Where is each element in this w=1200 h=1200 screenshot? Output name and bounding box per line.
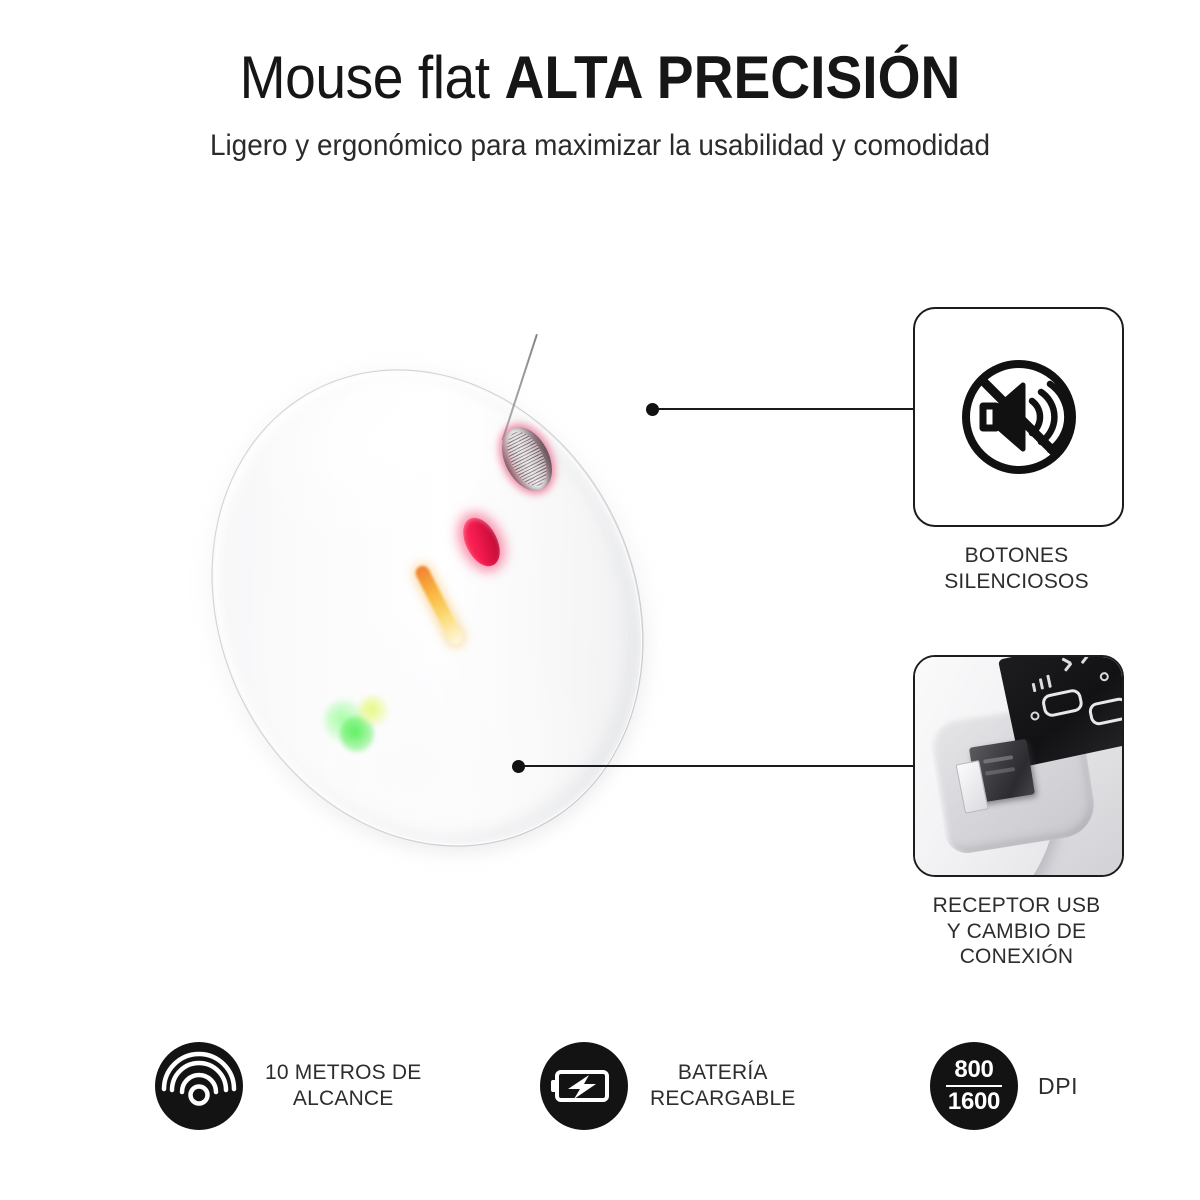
leader-dot-silent-buttons — [646, 403, 659, 416]
label-slot-1 — [1040, 688, 1084, 719]
glow-blob-yellow — [358, 696, 388, 726]
dpi-value-high: 1600 — [948, 1089, 1000, 1115]
dpi-divider — [946, 1085, 1002, 1088]
muted-speaker-icon — [953, 351, 1085, 483]
label-mark — [1032, 683, 1037, 692]
feature-label-battery: BATERÍA RECARGABLE — [650, 1060, 796, 1113]
callout-box-silent-buttons — [913, 307, 1124, 527]
page-subtitle: Ligero y ergonómico para maximizar la us… — [42, 129, 1158, 163]
header: Mouse flat ALTA PRECISIÓN Ligero y ergon… — [0, 46, 1200, 163]
dpi-fraction: 800 1600 — [930, 1042, 1018, 1130]
usb-receiver-photo — [915, 657, 1122, 875]
feature-dpi: 800 1600 DPI — [930, 1042, 1078, 1130]
leader-line-silent-buttons — [653, 408, 915, 410]
page-title: Mouse flat ALTA PRECISIÓN — [48, 46, 1152, 109]
label-mark — [1046, 675, 1052, 688]
label-mark — [1064, 662, 1072, 671]
callout-box-usb-receiver — [913, 655, 1124, 877]
battery-charging-icon — [540, 1042, 628, 1130]
callout-label-usb-receiver: RECEPTOR USB Y CAMBIO DE CONEXIÓN — [888, 893, 1145, 970]
leader-dot-usb-receiver — [512, 760, 525, 773]
label-mark-dot — [1099, 671, 1110, 682]
mouse-edge-highlight — [136, 300, 721, 919]
page-title-bold: ALTA PRECISIÓN — [505, 44, 961, 111]
usb-nano-receiver — [969, 739, 1035, 803]
rgb-status-led-glow — [318, 690, 396, 762]
label-mark-dot — [1030, 711, 1041, 722]
label-mark — [1039, 678, 1044, 689]
dpi-value-low: 800 — [954, 1057, 993, 1083]
feature-label-dpi: DPI — [1038, 1072, 1078, 1101]
page-title-light: Mouse flat — [240, 44, 505, 111]
leader-line-usb-receiver — [519, 765, 915, 767]
feature-range: 10 METROS DE ALCANCE — [155, 1042, 421, 1130]
feature-battery: BATERÍA RECARGABLE — [540, 1042, 796, 1130]
wireless-signal-icon — [155, 1042, 243, 1130]
label-mark — [1081, 655, 1089, 664]
label-slot-2 — [1087, 696, 1124, 727]
feature-label-range: 10 METROS DE ALCANCE — [265, 1060, 421, 1113]
dpi-fraction-badge: 800 1600 — [930, 1042, 1018, 1130]
callout-label-silent-buttons: BOTONES SILENCIOSOS — [893, 543, 1140, 594]
